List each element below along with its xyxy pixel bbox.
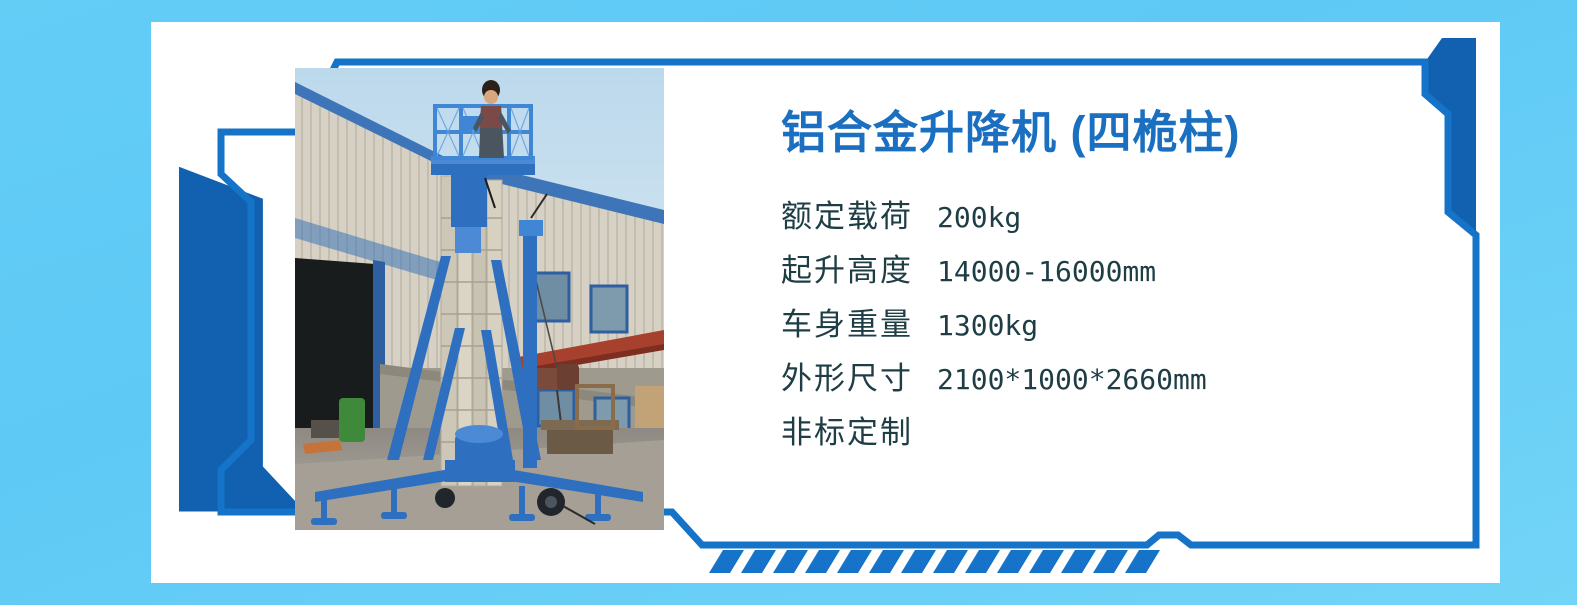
spec-value: 14000-16000mm <box>937 258 1156 286</box>
spec-label: 额定载荷 <box>781 201 913 232</box>
corner-wedge-bottom-left <box>179 167 305 512</box>
page-title: 铝合金升降机 (四桅柱) <box>781 107 1441 159</box>
product-photo <box>295 68 664 530</box>
spec-row-lifting-height: 起升高度 14000-16000mm <box>781 255 1441 286</box>
spec-row-dimensions: 外形尺寸 2100*1000*2660mm <box>781 363 1441 394</box>
spec-label: 车身重量 <box>781 309 913 340</box>
spec-label: 外形尺寸 <box>781 363 913 394</box>
custom-note-label: 非标定制 <box>781 417 913 448</box>
spec-list: 额定载荷 200kg 起升高度 14000-16000mm 车身重量 1300k… <box>781 201 1441 448</box>
spec-row-rated-load: 额定载荷 200kg <box>781 201 1441 232</box>
spec-value: 200kg <box>937 204 1021 232</box>
spec-value: 2100*1000*2660mm <box>937 366 1207 394</box>
spec-row-custom-note: 非标定制 <box>781 417 1441 448</box>
spec-row-machine-weight: 车身重量 1300kg <box>781 309 1441 340</box>
spec-label: 起升高度 <box>781 255 913 286</box>
banner-card: 铝合金升降机 (四桅柱) 额定载荷 200kg 起升高度 14000-16000… <box>151 22 1500 583</box>
product-info: 铝合金升降机 (四桅柱) 额定载荷 200kg 起升高度 14000-16000… <box>781 107 1441 471</box>
stripe-band <box>709 550 1160 573</box>
spec-value: 1300kg <box>937 312 1038 340</box>
